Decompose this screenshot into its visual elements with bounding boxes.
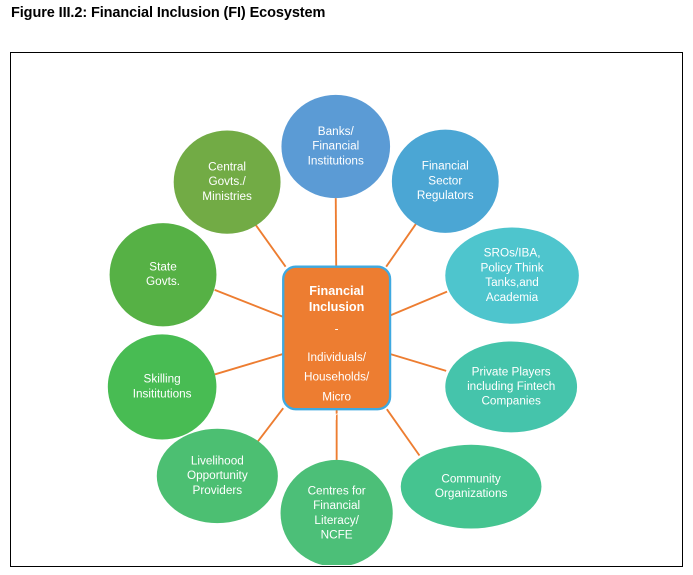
node-label-banks-financial-institutions: Banks/ — [318, 125, 355, 138]
spoke-line-state-govts — [215, 290, 284, 317]
node-label-state-govts: State — [149, 260, 177, 273]
node-label-centres-for-financial-literacy-ncfe: Centres for — [308, 484, 366, 497]
node-label-financial-sector-regulators: Financial — [422, 160, 469, 173]
node-central-govts-ministries[interactable]: CentralGovts./Ministries — [174, 130, 281, 233]
node-label-centres-for-financial-literacy-ncfe: NCFE — [321, 529, 353, 542]
spoke-line-community-organizations — [387, 409, 420, 455]
node-label-private-players-including-fintech-companies: Companies — [481, 395, 541, 408]
node-livelihood-opportunity-providers[interactable]: LivelihoodOpportunityProviders — [157, 429, 278, 523]
spoke-line-livelihood-opportunity-providers — [257, 408, 283, 442]
diagram-frame: Banks/FinancialInstitutionsFinancialSect… — [10, 52, 683, 567]
spoke-line-financial-sector-regulators — [386, 224, 416, 267]
node-label-livelihood-opportunity-providers: Opportunity — [187, 469, 248, 482]
center-subtitle-line: Households/ — [304, 371, 370, 384]
spoke-line-private-players-including-fintech-companies — [390, 354, 446, 371]
node-label-sros-iba-policy-think-tanks-academia: Policy Think — [480, 261, 543, 274]
ecosystem-diagram: Banks/FinancialInstitutionsFinancialSect… — [11, 53, 681, 565]
node-shape-centres-for-financial-literacy-ncfe — [281, 460, 393, 565]
node-label-centres-for-financial-literacy-ncfe: Financial — [313, 499, 360, 512]
node-skilling-insititutions[interactable]: SkillingInsititutions — [108, 334, 217, 439]
node-label-private-players-including-fintech-companies: Private Players — [472, 365, 551, 378]
node-state-govts[interactable]: StateGovts. — [110, 223, 217, 326]
node-label-private-players-including-fintech-companies: including Fintech — [467, 380, 555, 393]
node-label-central-govts-ministries: Ministries — [202, 190, 252, 203]
node-label-livelihood-opportunity-providers: Livelihood — [191, 454, 244, 467]
node-label-financial-sector-regulators: Regulators — [417, 189, 474, 202]
node-label-state-govts: Govts. — [146, 275, 180, 288]
node-label-sros-iba-policy-think-tanks-academia: SROs/IBA, — [484, 247, 541, 260]
node-centres-for-financial-literacy-ncfe[interactable]: Centres forFinancialLiteracy/NCFE — [281, 460, 393, 565]
node-community-organizations[interactable]: CommunityOrganizations — [401, 445, 542, 529]
node-label-skilling-insititutions: Insititutions — [133, 387, 192, 400]
spoke-line-skilling-insititutions — [215, 354, 284, 375]
center-title-line-1: Financial — [309, 284, 364, 298]
center-subtitle-line: Enterprenuers — [299, 410, 374, 423]
center-subtitle-line: Micro — [322, 390, 351, 403]
center-title-line-2: Inclusion — [309, 300, 364, 314]
node-label-central-govts-ministries: Central — [208, 161, 246, 174]
node-label-central-govts-ministries: Govts./ — [209, 175, 247, 188]
node-label-livelihood-opportunity-providers: Providers — [193, 484, 243, 497]
figure-page: Figure III.2: Financial Inclusion (FI) E… — [0, 0, 693, 575]
node-label-banks-financial-institutions: Institutions — [308, 154, 364, 167]
node-private-players-including-fintech-companies[interactable]: Private Playersincluding FintechCompanie… — [445, 342, 577, 433]
node-financial-inclusion[interactable]: FinancialInclusion-Individuals/Household… — [283, 267, 390, 423]
node-sros-iba-policy-think-tanks-academia[interactable]: SROs/IBA,Policy ThinkTanks,andAcademia — [445, 228, 579, 324]
center-separator: - — [335, 323, 339, 336]
page-title: Figure III.2: Financial Inclusion (FI) E… — [11, 5, 325, 21]
node-label-skilling-insititutions: Skilling — [144, 373, 181, 386]
center-subtitle-line: Individuals/ — [307, 351, 367, 364]
spoke-line-central-govts-ministries — [256, 225, 286, 267]
node-label-centres-for-financial-literacy-ncfe: Literacy/ — [314, 514, 359, 527]
center-node-layer: FinancialInclusion-Individuals/Household… — [283, 267, 390, 423]
node-label-financial-sector-regulators: Sector — [428, 174, 462, 187]
spoke-line-sros-iba-policy-think-tanks-academia — [390, 292, 447, 316]
node-label-banks-financial-institutions: Financial — [312, 140, 359, 153]
node-banks-financial-institutions[interactable]: Banks/FinancialInstitutions — [281, 95, 390, 198]
node-financial-sector-regulators[interactable]: FinancialSectorRegulators — [392, 130, 499, 233]
node-label-sros-iba-policy-think-tanks-academia: Tanks,and — [485, 276, 539, 289]
node-label-community-organizations: Community — [441, 472, 501, 485]
node-label-community-organizations: Organizations — [435, 487, 508, 500]
node-label-sros-iba-policy-think-tanks-academia: Academia — [486, 291, 539, 304]
